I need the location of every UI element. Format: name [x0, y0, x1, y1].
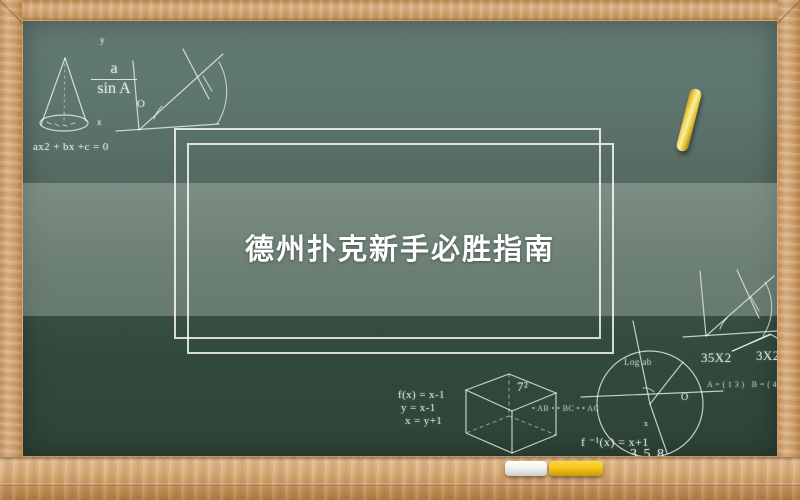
formula-quadratic: ax2 + bx +c = 0 [33, 141, 109, 153]
formula-y-equals: y = x-1 [401, 402, 436, 414]
frame-right-rail [778, 0, 800, 500]
frame-left-rail [0, 0, 22, 500]
label-matrix-dims-1: 35X2 [701, 350, 732, 366]
formula-f-of-x: f(x) = x-1 [398, 389, 445, 401]
formula-log-ab: Log ab [624, 357, 652, 367]
axis-label-x-right: x [644, 419, 648, 428]
chalk-stick-ledge-white [505, 461, 547, 476]
formula-a-over-sin-a-1: a sin A [91, 61, 137, 98]
chalkboard-poster: a sin A ax2 + bx +c = 0 y x O f(x) = x-1… [0, 0, 800, 500]
chalk-ledge [0, 457, 800, 500]
formula-seven-squared: 7² [517, 379, 528, 395]
angle-label-o-right: O [681, 392, 689, 403]
ledge-lip [0, 483, 800, 486]
formula-x-equals: x = y+1 [405, 415, 442, 427]
formula-ab-bc-ac: • AB • • BC • • AC [532, 404, 599, 413]
label-matrix-dims-2: 3X2 [756, 348, 777, 364]
angle-label-o-left: O [137, 98, 145, 110]
chalkboard-surface: a sin A ax2 + bx +c = 0 y x O f(x) = x-1… [23, 21, 777, 456]
frame-top-rail [0, 0, 800, 20]
chalk-stick-ledge-yellow [549, 461, 603, 476]
axis-label-y-left: y [100, 35, 105, 45]
axis-label-x-left: x [97, 117, 102, 127]
page-title: 德州扑克新手必胜指南 [23, 226, 777, 268]
formula-matrix-row: A = ( 1 3 ) B = ( 4 2 ) I = ( 1 0 ) [707, 380, 777, 389]
ledge-shadow [0, 457, 800, 461]
subtraction-row-top: 3 5 8 [630, 447, 666, 456]
